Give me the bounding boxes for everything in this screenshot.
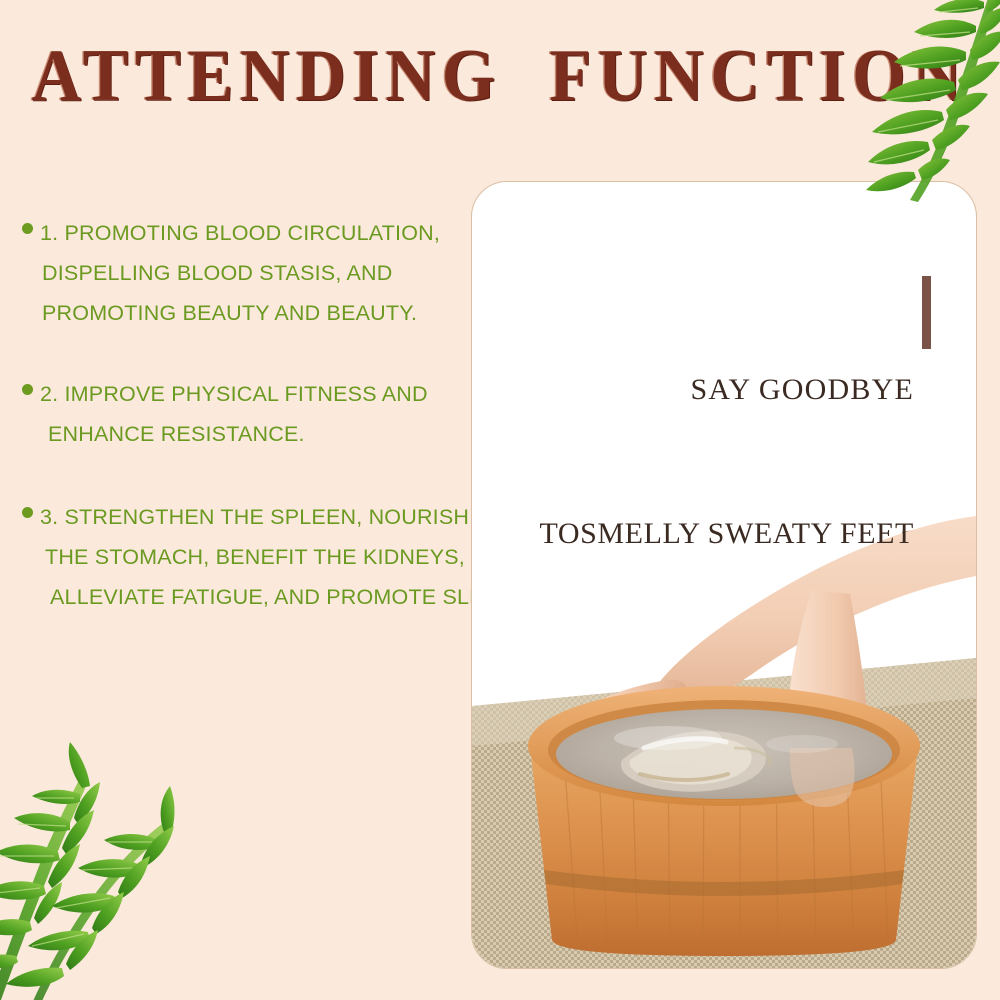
list-item: 3. STRENGTHEN THE SPLEEN, NOURISH THE ST… — [0, 497, 470, 617]
benefit-line: ALLEVIATE FATIGUE, AND PROMOTE SLEEP. — [0, 577, 470, 617]
benefit-line: 2. IMPROVE PHYSICAL FITNESS AND — [0, 374, 470, 414]
infographic-canvas: ATTENDING FUNCTION 1. PROMOTING BLOOD CI… — [0, 0, 1000, 1000]
benefit-line: 1. PROMOTING BLOOD CIRCULATION, — [0, 213, 470, 253]
product-card: SAY GOODBYE TOSMELLY SWEATY FEET — [471, 181, 977, 969]
bullet-dot-icon — [22, 223, 33, 234]
list-item: 2. IMPROVE PHYSICAL FITNESS AND ENHANCE … — [0, 374, 470, 454]
benefit-line: ENHANCE RESISTANCE. — [0, 414, 470, 454]
headline-line-2: TOSMELLY SWEATY FEET — [539, 510, 914, 558]
benefit-line: 3. STRENGTHEN THE SPLEEN, NOURISH — [0, 497, 470, 537]
bullet-dot-icon — [22, 507, 33, 518]
benefit-line: THE STOMACH, BENEFIT THE KIDNEYS, — [0, 537, 470, 577]
list-item: 1. PROMOTING BLOOD CIRCULATION, DISPELLI… — [0, 213, 470, 333]
mugwort-leaf-icon — [0, 740, 197, 1000]
headline-accent-bar — [922, 276, 931, 349]
page-title: ATTENDING FUNCTION — [32, 36, 869, 116]
card-headline: SAY GOODBYE TOSMELLY SWEATY FEET — [539, 270, 914, 654]
mugwort-leaf-bottom-left — [0, 740, 197, 1000]
benefits-list: 1. PROMOTING BLOOD CIRCULATION, DISPELLI… — [0, 213, 470, 617]
benefit-line: DISPELLING BLOOD STASIS, AND — [0, 253, 470, 293]
benefit-line: PROMOTING BEAUTY AND BEAUTY. — [0, 293, 470, 333]
bullet-dot-icon — [22, 384, 33, 395]
headline-line-1: SAY GOODBYE — [539, 366, 914, 414]
